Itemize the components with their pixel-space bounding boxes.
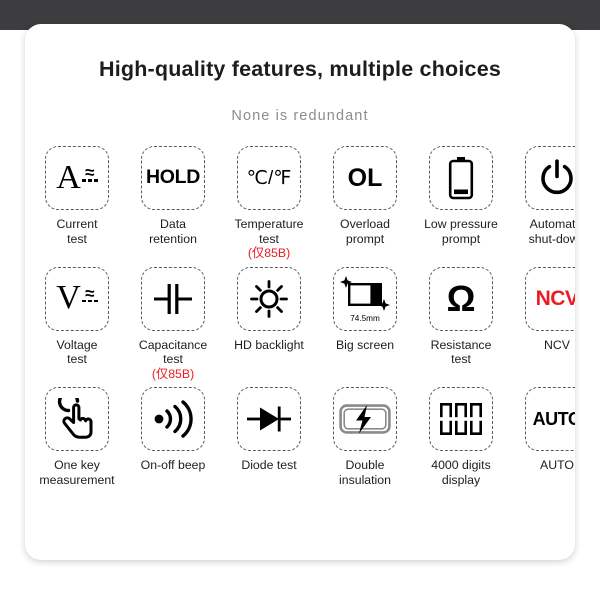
feature-label: Automaticshut-down xyxy=(509,217,575,246)
dc-dashes xyxy=(82,300,98,302)
feature-item-low-pressure-prompt[interactable]: Low pressureprompt xyxy=(413,146,509,261)
feature-item-one-key-measurement[interactable]: One keymeasurement xyxy=(29,387,125,487)
feature-item-current-test[interactable]: A ≈ Currenttest xyxy=(29,146,125,261)
feature-tile xyxy=(45,387,109,451)
volt-letter: V xyxy=(56,283,81,314)
feature-label: 4000 digitsdisplay xyxy=(413,458,509,487)
voltage-ac-dc-icon: V ≈ xyxy=(56,283,98,314)
feature-tile: HOLD xyxy=(141,146,205,210)
feature-tile xyxy=(333,387,397,451)
tap-hand-icon xyxy=(57,398,97,440)
feature-item-resistance-test[interactable]: Ω Resistancetest xyxy=(413,267,509,382)
feature-tile xyxy=(141,387,205,451)
feature-item-big-screen[interactable]: 74.5mm Big screen xyxy=(317,267,413,382)
feature-grid: A ≈ Currenttest HOLD Dataretention xyxy=(25,146,575,487)
ohm-icon: Ω xyxy=(447,281,476,317)
feature-tile: A ≈ xyxy=(45,146,109,210)
diode-icon xyxy=(246,404,292,434)
feature-note: (仅85B) xyxy=(248,246,290,261)
feature-label: On-off beep xyxy=(125,458,221,473)
page-subtitle: None is redundant xyxy=(25,108,575,124)
feature-tile: V ≈ xyxy=(45,267,109,331)
feature-tile xyxy=(525,146,575,210)
screen-size-label: 74.5mm xyxy=(334,314,396,323)
feature-tile: 74.5mm xyxy=(333,267,397,331)
tilde-glyph: ≈ xyxy=(85,289,94,298)
feature-item-temperature-test[interactable]: ℃/℉ Temperaturetest (仅85B) xyxy=(221,146,317,261)
ncv-icon: NCV xyxy=(536,288,575,309)
feature-card: High-quality features, multiple choices … xyxy=(25,24,575,560)
feature-label: Overloadprompt xyxy=(317,217,413,246)
power-button-icon xyxy=(537,158,575,198)
ac-dc-symbol: ≈ xyxy=(82,289,98,302)
hold-icon: HOLD xyxy=(146,168,200,188)
feature-tile: AUTO xyxy=(525,387,575,451)
feature-label: AUTO xyxy=(509,458,575,473)
overload-ol-icon: OL xyxy=(348,166,383,191)
feature-tile xyxy=(237,267,301,331)
feature-item-on-off-beep[interactable]: On-off beep xyxy=(125,387,221,487)
ac-dc-symbol: ≈ xyxy=(82,168,98,181)
feature-label: Doubleinsulation xyxy=(317,458,413,487)
feature-item-capacitance-test[interactable]: Capacitancetest (仅85B) xyxy=(125,267,221,382)
feature-item-double-insulation[interactable]: Doubleinsulation xyxy=(317,387,413,487)
feature-tile xyxy=(429,387,493,451)
feature-item-ncv[interactable]: NCV NCV xyxy=(509,267,575,382)
feature-tile xyxy=(237,387,301,451)
feature-label: Capacitancetest xyxy=(125,338,221,367)
feature-label: Diode test xyxy=(221,458,317,473)
feature-label: Temperaturetest xyxy=(221,217,317,246)
feature-tile: Ω xyxy=(429,267,493,331)
feature-label: Dataretention xyxy=(125,217,221,246)
page-title: High-quality features, multiple choices xyxy=(25,57,575,82)
big-screen-icon xyxy=(340,275,390,315)
dc-dashes xyxy=(82,179,98,181)
feature-tile: ℃/℉ xyxy=(237,146,301,210)
page-root: High-quality features, multiple choices … xyxy=(0,0,600,600)
ampere-letter: A xyxy=(56,163,81,194)
feature-label: Resistancetest xyxy=(413,338,509,367)
feature-label: Currenttest xyxy=(29,217,125,246)
feature-item-data-retention[interactable]: HOLD Dataretention xyxy=(125,146,221,261)
feature-label: Voltagetest xyxy=(29,338,125,367)
feature-tile xyxy=(429,146,493,210)
feature-label: Low pressureprompt xyxy=(413,217,509,246)
feature-label: HD backlight xyxy=(221,338,317,353)
feature-tile: NCV xyxy=(525,267,575,331)
feature-note: (仅85B) xyxy=(152,367,194,382)
current-ac-dc-icon: A ≈ xyxy=(56,163,98,194)
sound-wave-icon xyxy=(152,400,194,438)
feature-item-4000-digits-display[interactable]: 4000 digitsdisplay xyxy=(413,387,509,487)
auto-icon: AUTO xyxy=(533,410,575,428)
low-battery-icon xyxy=(448,156,474,200)
feature-label: Big screen xyxy=(317,338,413,353)
feature-item-overload-prompt[interactable]: OL Overloadprompt xyxy=(317,146,413,261)
tilde-glyph: ≈ xyxy=(85,168,94,177)
feature-label: One keymeasurement xyxy=(29,458,125,487)
capacitor-icon xyxy=(152,282,194,316)
feature-item-auto[interactable]: AUTO AUTO xyxy=(509,387,575,487)
feature-label: NCV xyxy=(509,338,575,353)
feature-item-diode-test[interactable]: Diode test xyxy=(221,387,317,487)
feature-tile: OL xyxy=(333,146,397,210)
seven-segment-digits-icon xyxy=(439,402,483,436)
double-insulation-icon xyxy=(339,404,391,434)
temperature-icon: ℃/℉ xyxy=(247,169,292,188)
feature-item-voltage-test[interactable]: V ≈ Voltagetest xyxy=(29,267,125,382)
sun-brightness-icon xyxy=(249,279,289,319)
feature-item-automatic-shutdown[interactable]: Automaticshut-down xyxy=(509,146,575,261)
feature-tile xyxy=(141,267,205,331)
feature-item-hd-backlight[interactable]: HD backlight xyxy=(221,267,317,382)
